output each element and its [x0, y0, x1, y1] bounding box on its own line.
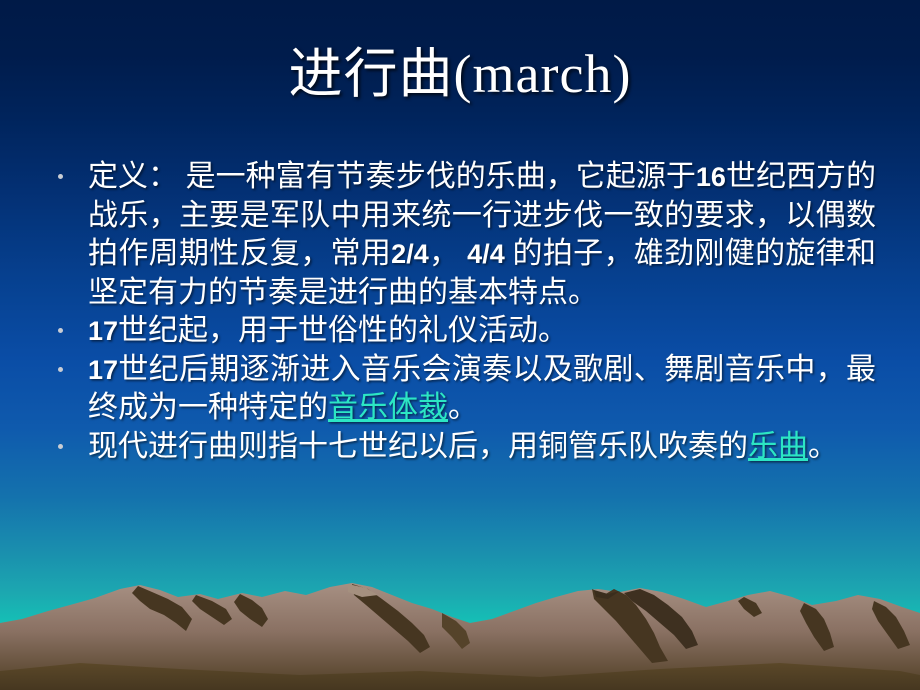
slide-body-content: 定义： 是一种富有节奏步伐的乐曲，它起源于16世纪西方的战乐，主要是军队中用来统…	[44, 158, 876, 466]
bullet-item: 17世纪起，用于世俗性的礼仪活动。	[44, 312, 876, 351]
bullet-dot-icon	[58, 367, 63, 372]
bullet-text: 定义： 是一种富有节奏步伐的乐曲，它起源于	[88, 160, 696, 193]
bullet-text: 世纪起，用于世俗性的礼仪活动。	[118, 314, 568, 347]
bullet-number: 17	[88, 316, 118, 346]
bullet-dot-icon	[58, 328, 63, 333]
hyperlink[interactable]: 乐曲	[748, 430, 808, 463]
bullet-dot-icon	[58, 444, 63, 449]
bullet-number: 17	[88, 355, 118, 385]
bullet-item: 现代进行曲则指十七世纪以后，用铜管乐队吹奏的乐曲。	[44, 428, 876, 467]
mountain-range-icon	[0, 575, 920, 690]
bullet-text: 世纪后期逐渐进入音乐会演奏以及歌剧、舞剧音乐中，最终成为一种特定的	[88, 353, 876, 425]
bullet-text: 。	[808, 430, 838, 463]
bullet-text: ，	[429, 237, 467, 270]
bullet-number: 2/4	[391, 239, 429, 269]
bullet-dot-icon	[58, 174, 63, 179]
bullet-number: 16	[696, 162, 726, 192]
bullet-item: 17世纪后期逐渐进入音乐会演奏以及歌剧、舞剧音乐中，最终成为一种特定的音乐体裁。	[44, 351, 876, 428]
hyperlink[interactable]: 音乐体裁	[328, 391, 448, 424]
bullet-text: 现代进行曲则指十七世纪以后，用铜管乐队吹奏的	[88, 430, 748, 463]
presentation-slide: 进行曲(march) 定义： 是一种富有节奏步伐的乐曲，它起源于16世纪西方的战…	[0, 0, 920, 690]
page-title: 进行曲(march)	[0, 42, 920, 106]
bullet-text: 。	[448, 391, 478, 424]
bullet-item: 定义： 是一种富有节奏步伐的乐曲，它起源于16世纪西方的战乐，主要是军队中用来统…	[44, 158, 876, 312]
bullet-number: 4/4	[467, 239, 505, 269]
